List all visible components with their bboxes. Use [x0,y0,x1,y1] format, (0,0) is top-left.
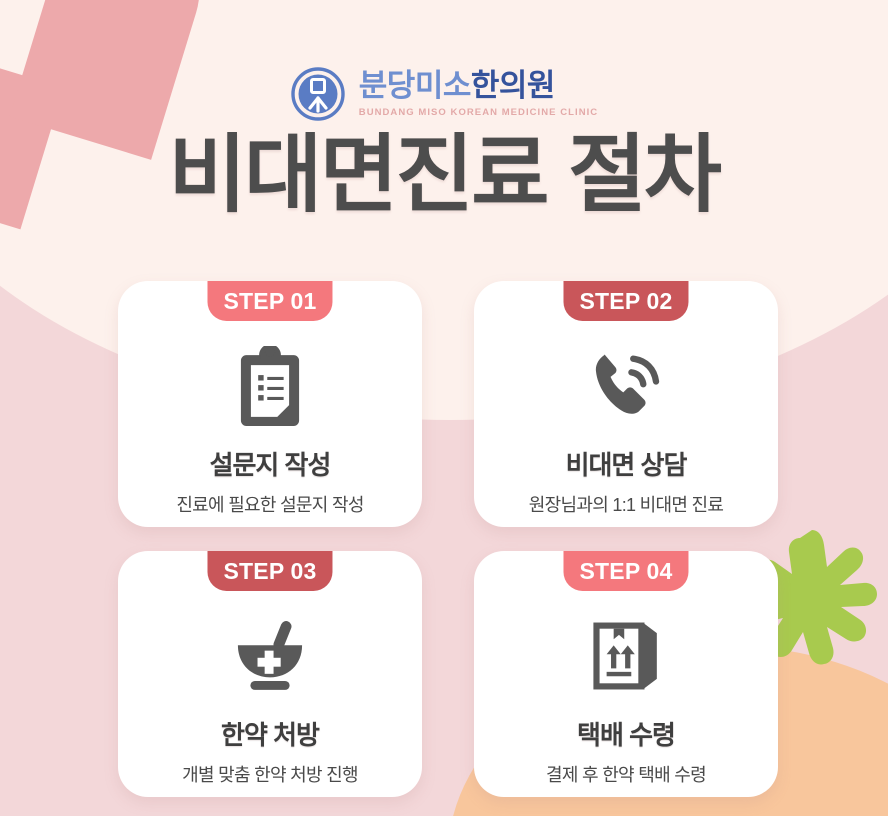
step-desc-03: 개별 맞춤 한약 처방 진행 [182,761,358,787]
phone-call-ringing-icon [586,343,666,429]
step-card-03: STEP 03 한약 처방 개별 맞춤 한약 처방 진행 [118,551,422,797]
infographic-canvas: 분당미소 한의원 BUNDANG MISO KOREAN MEDICINE CL… [0,0,888,816]
step-title-02: 비대면 상담 [566,445,687,482]
clinic-name-light: 분당미소 [359,70,471,101]
clinic-name-english: BUNDANG MISO KOREAN MEDICINE CLINIC [359,108,598,118]
step-card-01: STEP 01 설문지 작성 진료에 필요한 설 [118,281,422,527]
step-desc-01: 진료에 필요한 설문지 작성 [176,491,363,517]
mortar-pestle-medical-icon [229,613,311,699]
clinic-name-dark: 한의원 [471,70,555,101]
step-badge-04: STEP 04 [563,551,688,591]
steps-grid: STEP 01 설문지 작성 진료에 필요한 설 [118,281,778,797]
step-desc-02: 원장님과의 1:1 비대면 진료 [529,491,723,517]
step-title-01: 설문지 작성 [210,445,331,482]
clinic-circle-emblem-icon [290,66,346,122]
step-title-04: 택배 수령 [577,715,675,752]
page-title: 비대면진료 절차 [0,133,888,218]
step-badge-02: STEP 02 [563,281,688,321]
step-badge-01: STEP 01 [207,281,332,321]
clinic-logo: 분당미소 한의원 BUNDANG MISO KOREAN MEDICINE CL… [0,66,888,122]
step-card-02: STEP 02 비대면 상담 원장님과의 1:1 비대면 진료 [474,281,778,527]
step-title-03: 한약 처방 [221,715,319,752]
step-badge-03: STEP 03 [207,551,332,591]
clipboard-checklist-icon [233,343,307,429]
step-desc-04: 결제 후 한약 택배 수령 [546,761,706,787]
step-card-04: STEP 04 택배 수령 결제 후 한약 택배 수령 [474,551,778,797]
delivery-package-box-icon [588,613,664,699]
